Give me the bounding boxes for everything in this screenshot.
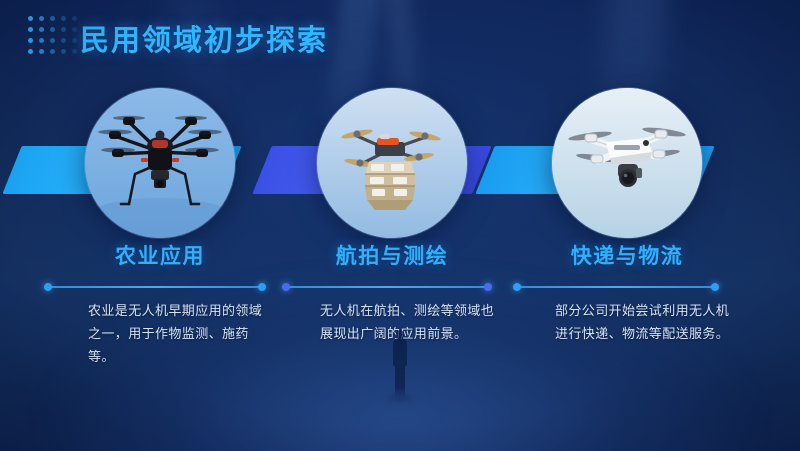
slide-canvas: 民用领域初步探索 (0, 0, 800, 451)
column-divider (44, 283, 266, 291)
column-heading-logistics: 快递与物流 (507, 240, 747, 270)
column-divider (513, 283, 719, 291)
drone-photo-package-carrier (317, 88, 467, 238)
column-divider (282, 283, 492, 291)
dot-grid-icon (28, 16, 80, 57)
column-body-agriculture: 农业是无人机早期应用的领域之一，用于作物监测、施药等。 (88, 300, 266, 369)
slide-header: 民用领域初步探索 (0, 0, 800, 72)
content-columns: 农业应用 农业是无人机早期应用的领域之一，用于作物监测、施药等。 (0, 88, 800, 368)
drone-photo-hexacopter (85, 88, 235, 238)
column-body-aerial-survey: 无人机在航拍、测绘等领域也展现出广阔的应用前景。 (320, 300, 498, 346)
drone-photo-white-quadcopter (552, 88, 702, 238)
column-body-logistics: 部分公司开始尝试利用无人机进行快递、物流等配送服务。 (555, 300, 733, 346)
column-heading-aerial-survey: 航拍与测绘 (272, 240, 512, 270)
column-heading-agriculture: 农业应用 (40, 240, 280, 270)
page-title: 民用领域初步探索 (80, 17, 328, 59)
